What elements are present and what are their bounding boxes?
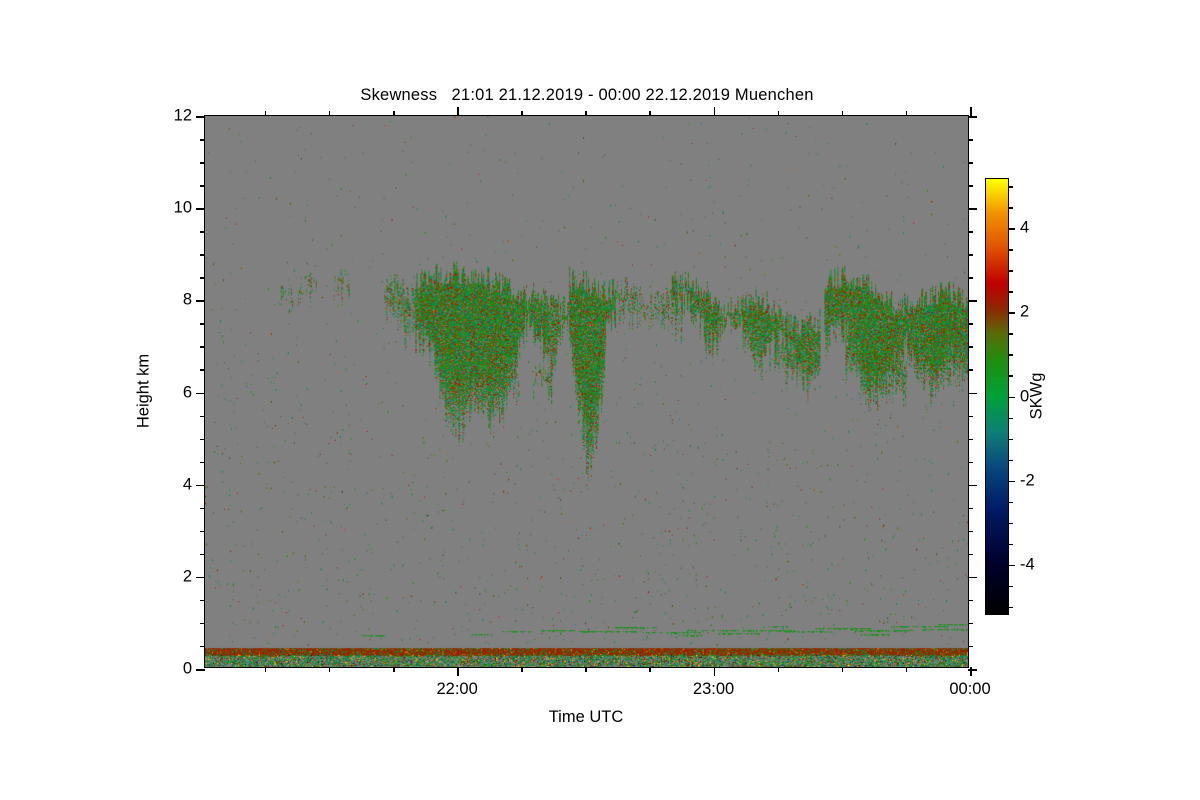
y-tick-minor [200,554,205,556]
x-tick-minor [842,667,844,672]
y-tick-minor [200,185,205,187]
colorbar-tick-minor [1009,586,1013,588]
x-tick-minor [649,111,651,116]
colorbar-tick-major [1009,228,1015,230]
y-tick-label: 10 [174,199,192,218]
y-tick-major [196,577,205,579]
colorbar-label: SKWg [1028,373,1047,420]
colorbar-tick-minor [1009,207,1013,209]
y-tick-label: 4 [183,475,192,494]
x-tick-major [457,667,459,676]
y-tick-minor [200,346,205,348]
x-tick-minor [778,111,780,116]
y-tick-major [196,485,205,487]
colorbar-tick-label: 2 [1020,303,1029,322]
colorbar-tick-major [1009,397,1015,399]
x-tick-minor [585,667,587,672]
x-tick-major [714,107,716,116]
y-tick-minor [968,277,973,279]
heatmap-plot-area: 02468101222:0023:0000:00 [204,115,969,668]
y-tick-minor [200,416,205,418]
x-tick-minor [906,111,908,116]
colorbar-tick-minor [1009,418,1013,420]
x-tick-major [714,667,716,676]
colorbar-tick-major [1009,481,1015,483]
y-tick-major [196,300,205,302]
y-tick-major [968,116,977,118]
y-tick-label: 2 [183,567,192,586]
x-tick-label: 22:00 [436,680,477,699]
x-tick-label: 00:00 [949,680,990,699]
colorbar-tick-minor [1009,460,1013,462]
y-tick-major [968,485,977,487]
y-tick-minor [200,323,205,325]
colorbar-tick-minor [1009,439,1013,441]
y-tick-major [968,300,977,302]
colorbar-tick-minor [1009,502,1013,504]
colorbar-tick-minor [1009,354,1013,356]
y-tick-minor [968,508,973,510]
y-tick-minor [200,139,205,141]
y-tick-minor [968,439,973,441]
colorbar-tick-minor [1009,375,1013,377]
colorbar-tick-minor [1009,291,1013,293]
x-tick-minor [521,667,523,672]
colorbar: -4-2024 [985,178,1009,615]
heatmap-data-canvas [205,116,968,667]
y-tick-minor [200,254,205,256]
y-tick-major [968,393,977,395]
colorbar-tick-minor [1009,523,1013,525]
y-tick-minor [200,439,205,441]
y-tick-major [968,577,977,579]
y-tick-minor [200,508,205,510]
x-tick-minor [906,667,908,672]
y-tick-minor [200,162,205,164]
y-tick-minor [968,139,973,141]
x-tick-minor [265,667,267,672]
x-tick-major [970,107,972,116]
colorbar-tick-minor [1009,249,1013,251]
y-tick-label: 0 [183,660,192,679]
y-tick-minor [200,231,205,233]
x-tick-minor [842,111,844,116]
y-tick-minor [968,600,973,602]
y-tick-minor [968,323,973,325]
y-tick-major [196,669,205,671]
y-tick-minor [200,462,205,464]
colorbar-tick-major [1009,312,1015,314]
y-tick-label: 8 [183,291,192,310]
x-tick-minor [521,111,523,116]
colorbar-tick-label: 4 [1020,219,1029,238]
x-tick-label: 23:00 [693,680,734,699]
colorbar-tick-major [1009,565,1015,567]
colorbar-tick-label: -4 [1020,555,1035,574]
x-tick-major [970,667,972,676]
y-axis-label: Height km [135,354,154,428]
y-tick-minor [200,600,205,602]
y-tick-minor [200,531,205,533]
y-tick-minor [200,646,205,648]
x-tick-minor [585,111,587,116]
x-tick-minor [329,667,331,672]
y-tick-minor [968,185,973,187]
y-tick-minor [968,369,973,371]
y-tick-minor [200,277,205,279]
figure-canvas: Skewness 21:01 21.12.2019 - 00:00 22.12.… [0,0,1200,800]
y-tick-minor [968,346,973,348]
y-tick-major [196,393,205,395]
colorbar-tick-label: -2 [1020,471,1035,490]
y-tick-major [196,208,205,210]
y-tick-label: 12 [174,107,192,126]
y-tick-minor [968,231,973,233]
y-tick-minor [968,462,973,464]
y-tick-minor [968,646,973,648]
x-tick-major [457,107,459,116]
colorbar-tick-minor [1009,544,1013,546]
colorbar-tick-minor [1009,333,1013,335]
colorbar-gradient [985,178,1009,615]
colorbar-tick-minor [1009,607,1013,609]
y-tick-minor [968,554,973,556]
y-tick-minor [968,623,973,625]
y-tick-minor [968,416,973,418]
x-tick-minor [265,111,267,116]
colorbar-tick-minor [1009,270,1013,272]
colorbar-tick-minor [1009,186,1013,188]
x-tick-minor [329,111,331,116]
y-tick-minor [200,623,205,625]
y-tick-minor [968,162,973,164]
x-tick-minor [393,111,395,116]
y-tick-minor [968,531,973,533]
y-tick-minor [200,369,205,371]
x-tick-minor [778,667,780,672]
x-tick-minor [649,667,651,672]
y-tick-major [196,116,205,118]
x-tick-minor [393,667,395,672]
page-title: Skewness 21:01 21.12.2019 - 00:00 22.12.… [204,86,970,105]
x-axis-label: Time UTC [549,708,624,727]
y-tick-minor [968,254,973,256]
y-tick-major [968,208,977,210]
y-tick-label: 6 [183,383,192,402]
